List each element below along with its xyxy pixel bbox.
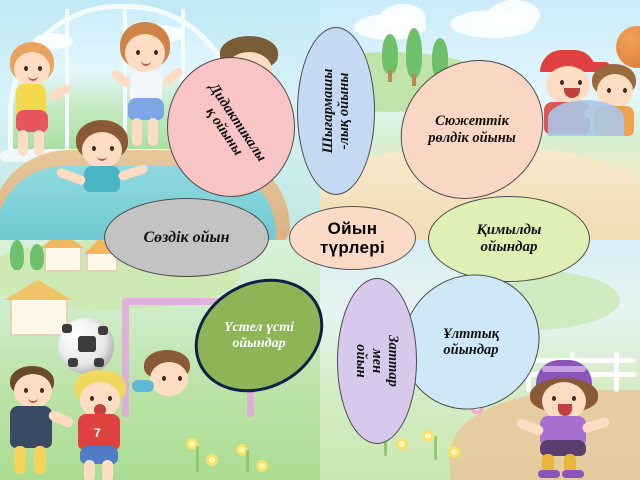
petal-creative-games[interactable]: Шығармашы -лық ойыны bbox=[297, 27, 375, 195]
child-figure bbox=[140, 350, 200, 420]
petal-label: Шығармашы -лық ойыны bbox=[320, 69, 352, 154]
center-node-game-types[interactable]: Ойын түрлері bbox=[289, 206, 416, 270]
slide-canvas: 7 bbox=[0, 0, 640, 480]
center-label: Ойын түрлері bbox=[320, 219, 385, 257]
petal-label: Сюжеттік рөлдік ойыны bbox=[428, 113, 516, 145]
petal-label: Үстел үсті ойындар bbox=[224, 320, 294, 351]
petal-label: Қимылды ойындар bbox=[477, 222, 542, 256]
petal-object-games[interactable]: Заттар мен ойын bbox=[337, 278, 417, 444]
petal-word-games[interactable]: Сөздік ойын bbox=[104, 198, 269, 277]
child-figure-rollerblader bbox=[520, 360, 630, 478]
petal-label: Заттар мен ойын bbox=[353, 322, 402, 400]
child-figure bbox=[2, 366, 72, 476]
petal-movement-games[interactable]: Қимылды ойындар bbox=[428, 196, 590, 282]
petal-label: Сөздік ойын bbox=[143, 229, 229, 247]
beach-towel bbox=[548, 100, 624, 136]
